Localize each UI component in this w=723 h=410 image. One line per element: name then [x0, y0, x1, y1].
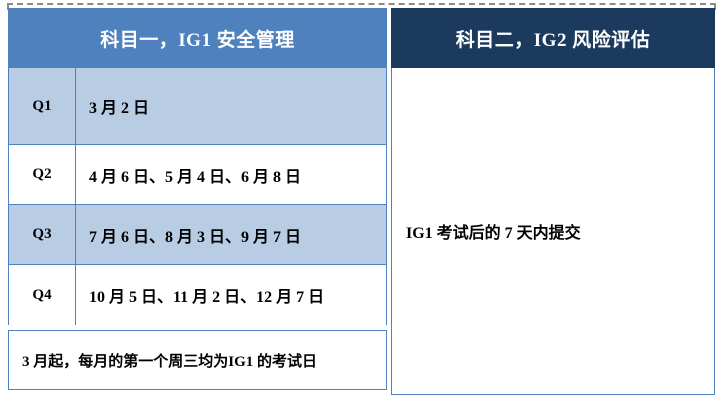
table-right-header: 科目二，IG2 风险评估 — [391, 8, 715, 68]
exam-dates-cell: 7 月 6 日、8 月 3 日、9 月 7 日 — [76, 205, 386, 264]
table-left-header: 科目一，IG1 安全管理 — [8, 8, 387, 68]
quarter-label: Q3 — [9, 205, 76, 264]
table-row[interactable]: Q1 3 月 2 日 — [9, 68, 386, 145]
exam-dates-cell: 4 月 6 日、5 月 4 日、6 月 8 日 — [76, 145, 386, 204]
table-row[interactable]: Q4 10 月 5 日、11 月 2 日、12 月 7 日 — [9, 265, 386, 325]
table-subject-one: 科目一，IG1 安全管理 Q1 3 月 2 日 Q2 4 月 6 日、5 月 4… — [8, 8, 387, 390]
slide-canvas: 科目一，IG1 安全管理 Q1 3 月 2 日 Q2 4 月 6 日、5 月 4… — [0, 0, 723, 410]
table-left-body: Q1 3 月 2 日 Q2 4 月 6 日、5 月 4 日、6 月 8 日 Q3… — [8, 68, 387, 325]
table-left-footnote: 3 月起，每月的第一个周三均为IG1 的考试日 — [8, 330, 387, 390]
quarter-label: Q1 — [9, 68, 76, 144]
table-subject-two: 科目二，IG2 风险评估 IG1 考试后的 7 天内提交 — [391, 8, 715, 395]
table-row[interactable]: Q2 4 月 6 日、5 月 4 日、6 月 8 日 — [9, 145, 386, 205]
table-row[interactable]: Q3 7 月 6 日、8 月 3 日、9 月 7 日 — [9, 205, 386, 265]
quarter-label: Q2 — [9, 145, 76, 204]
exam-dates-cell: 10 月 5 日、11 月 2 日、12 月 7 日 — [76, 265, 386, 325]
quarter-label: Q4 — [9, 265, 76, 325]
exam-dates-cell: 3 月 2 日 — [76, 68, 386, 144]
submission-deadline-cell: IG1 考试后的 7 天内提交 — [391, 68, 715, 395]
